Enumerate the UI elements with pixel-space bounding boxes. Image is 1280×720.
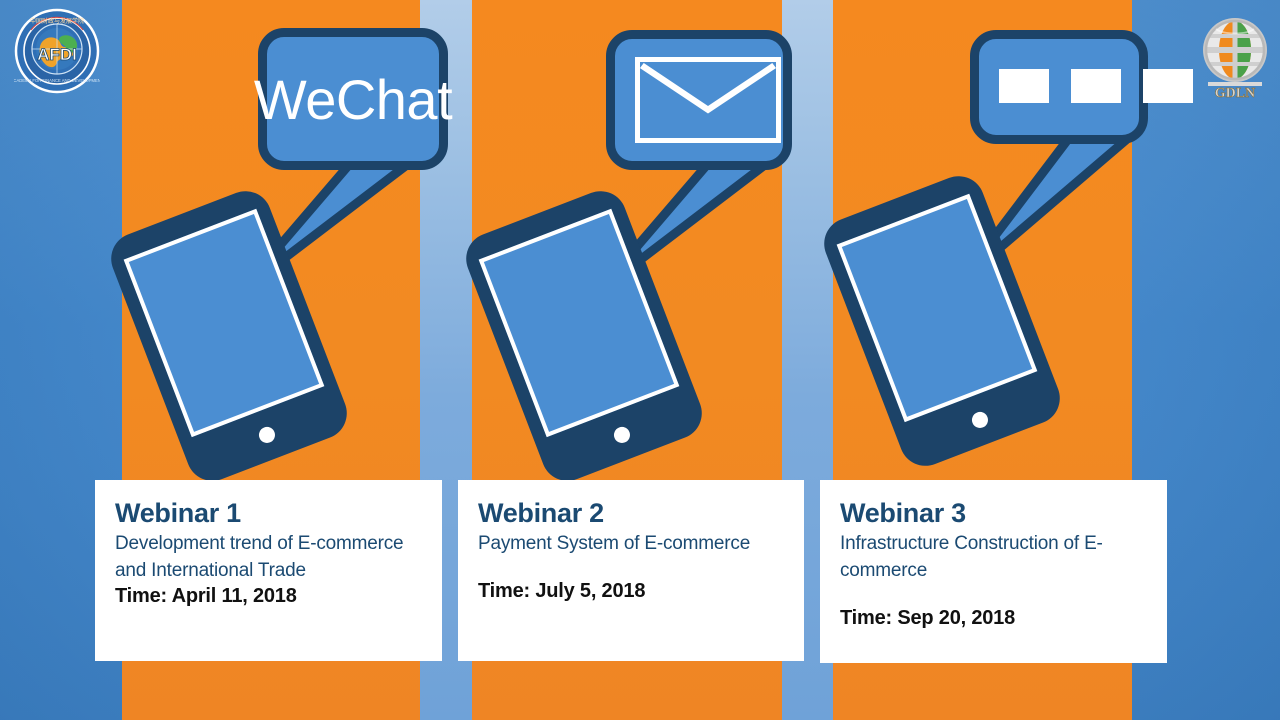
card-2-heading: Webinar 2 [478, 498, 784, 529]
home-button-1 [257, 425, 278, 446]
wechat-label: WeChat [267, 37, 439, 161]
ellipsis-dots-icon [999, 69, 1193, 103]
dot-1 [999, 69, 1049, 103]
dot-2 [1071, 69, 1121, 103]
svg-text:中国财政与发展学院: 中国财政与发展学院 [30, 17, 84, 25]
svg-text:AFDI: AFDI [37, 45, 77, 64]
card-2-spacer [478, 558, 784, 580]
home-button-2 [612, 425, 633, 446]
home-button-3 [970, 410, 991, 431]
speech-bubble-dots [970, 30, 1148, 144]
dot-3 [1143, 69, 1193, 103]
illustration-column-1: WeChat [120, 0, 480, 480]
webinar-card-2[interactable]: Webinar 2 Payment System of E-commerce T… [458, 480, 804, 661]
illustration-column-2 [480, 0, 840, 480]
svg-text:GDLN: GDLN [1215, 86, 1255, 98]
card-3-spacer [840, 585, 1147, 607]
afdi-logo: AFDI 中国财政与发展学院 ACADEMY FOR FINANCE AND D… [14, 8, 100, 94]
card-1-description: Development trend of E-commerce and Inte… [115, 531, 422, 585]
svg-text:ACADEMY FOR FINANCE AND DEVELO: ACADEMY FOR FINANCE AND DEVELOPMENT [14, 78, 100, 83]
envelope-icon [635, 57, 781, 143]
slide-canvas: AFDI 中国财政与发展学院 ACADEMY FOR FINANCE AND D… [0, 0, 1280, 720]
card-2-time: Time: July 5, 2018 [478, 580, 784, 603]
card-3-heading: Webinar 3 [840, 498, 1147, 529]
webinar-card-1[interactable]: Webinar 1 Development trend of E-commerc… [95, 480, 442, 661]
webinar-card-3[interactable]: Webinar 3 Infrastructure Construction of… [820, 480, 1167, 663]
speech-bubble-wechat: WeChat [258, 28, 448, 170]
speech-bubble-envelope [606, 30, 792, 170]
card-3-time: Time: Sep 20, 2018 [840, 607, 1147, 630]
gdln-logo: GDLN [1196, 12, 1274, 98]
card-1-time: Time: April 11, 2018 [115, 585, 422, 608]
card-2-description: Payment System of E-commerce [478, 531, 784, 558]
illustration-column-3 [840, 0, 1200, 480]
card-3-description: Infrastructure Construction of E-commerc… [840, 531, 1147, 585]
card-1-heading: Webinar 1 [115, 498, 422, 529]
